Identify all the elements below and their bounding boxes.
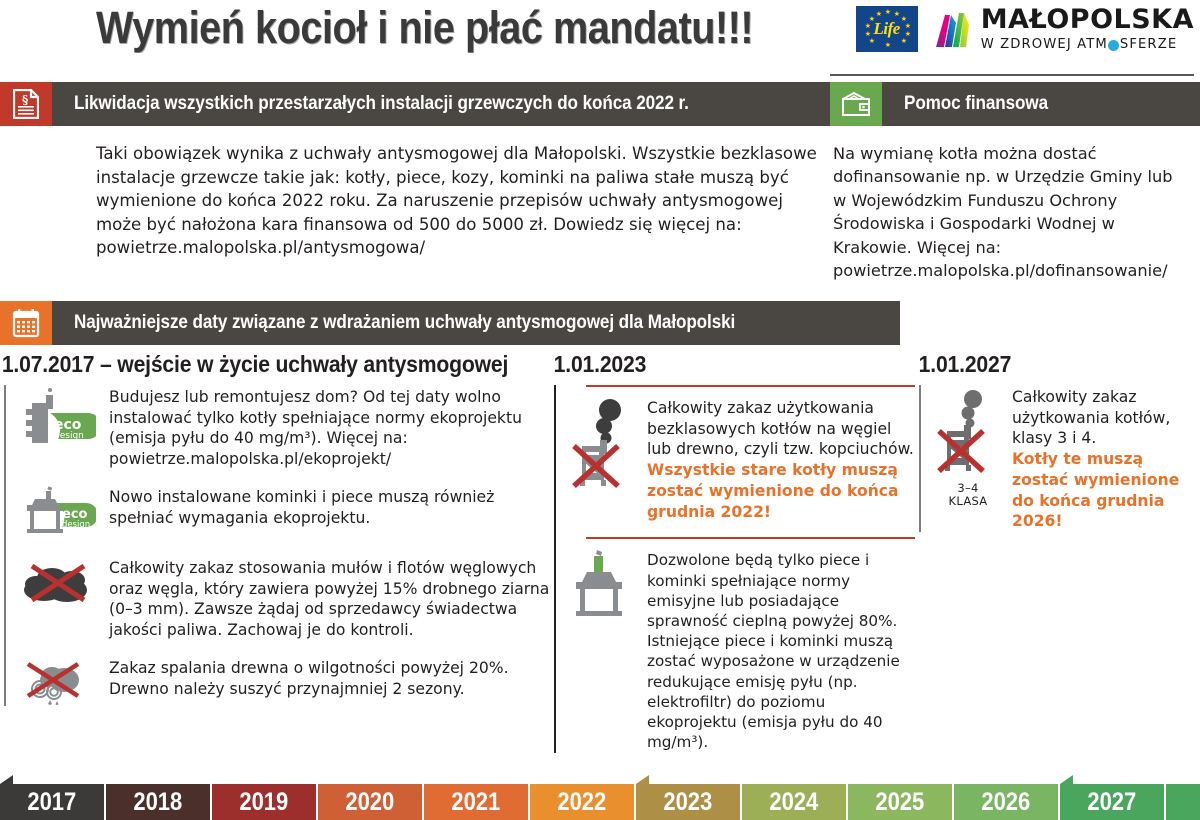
year-notch	[636, 775, 649, 784]
column-date-2027: 1.01.2027	[915, 351, 1177, 378]
list-item: 3–4 KLASA Całkowity zakaz użytkowania ko…	[937, 385, 1200, 532]
year-label: 2026	[982, 788, 1031, 817]
eu-life-logo: Life ★ ★ ★ ★ ★ ★ ★ ★ ★ ★ ★ ★	[856, 6, 918, 52]
fireplace-allowed-icon	[572, 548, 634, 620]
divider-middle	[586, 537, 915, 539]
list-item-text: Dozwolone będą tylko piece i kominki spe…	[647, 548, 915, 752]
timeline-column-2023: 1.01.2023	[550, 351, 915, 768]
logo-group: Life ★ ★ ★ ★ ★ ★ ★ ★ ★ ★ ★ ★	[856, 5, 1194, 52]
year-chip: 2020	[318, 784, 424, 820]
boiler-class34-banned-icon	[937, 385, 999, 481]
atmosphere-o-icon	[1108, 40, 1119, 51]
finance-paragraph: Na wymianę kotła można dostać dofinansow…	[833, 142, 1190, 283]
finance-text-block: Na wymianę kotła można dostać dofinansow…	[830, 142, 1200, 283]
year-chip: 2027	[1060, 784, 1166, 820]
dates-heading-bar: Najważniejsze daty związane z wdrażaniem…	[52, 301, 900, 345]
list-item-text: Całkowity zakaz stosowania mułów i flotó…	[109, 556, 550, 641]
column-date-2017: 1.07.2017 – wejście w życie uchwały anty…	[0, 351, 506, 378]
list-item: eco design Nowo instalowane kominki i pi…	[22, 485, 550, 541]
boiler-banned-icon	[572, 396, 634, 492]
svg-text:design: design	[54, 431, 84, 441]
liquidation-paragraph: Taki obowiązek wynika z uchwały antysmog…	[96, 142, 818, 260]
document-paragraph-icon: §	[0, 82, 52, 126]
list-item: Całkowity zakaz stosowania mułów i flotó…	[22, 556, 550, 641]
list-item: Dozwolone będą tylko piece i kominki spe…	[572, 548, 915, 752]
list-item-text: Całkowity zakaz użytkowania kotłów, klas…	[1012, 385, 1200, 532]
year-chip: 2022	[530, 784, 636, 820]
list-item-body: Całkowity zakaz użytkowania bezklasowych…	[647, 399, 914, 458]
liquidation-section-header: § Likwidacja wszystkich przestarzałych i…	[0, 82, 830, 126]
column-date-2023: 1.01.2023	[550, 351, 886, 378]
year-label: 2025	[876, 788, 925, 817]
wallet-house-icon	[830, 82, 882, 126]
list-item: Całkowity zakaz użytkowania bezklasowych…	[572, 396, 915, 522]
year-label: 2017	[28, 788, 77, 817]
svg-text:design: design	[62, 520, 90, 530]
year-label: 2020	[346, 788, 395, 817]
year-chip: 2025	[848, 784, 954, 820]
year-label: 2019	[240, 788, 289, 817]
list-item: Zakaz spalania drewna o wilgotności powy…	[22, 656, 550, 706]
year-chip: 2017	[0, 784, 106, 820]
year-chip: 2023	[636, 784, 742, 820]
liquidation-heading-bar: Likwidacja wszystkich przestarzałych ins…	[52, 82, 830, 126]
year-notch	[0, 775, 13, 784]
year-chip: 2024	[742, 784, 848, 820]
wet-wood-banned-icon	[22, 656, 96, 706]
list-item-highlight: Wszystkie stare kotły muszą zostać wymie…	[647, 461, 899, 520]
malopolska-wordmark: MAŁOPOLSKA	[981, 6, 1194, 33]
timeline-columns: 1.07.2017 – wejście w życie uchwały anty…	[0, 345, 1200, 768]
year-notch	[1060, 775, 1073, 784]
stove-ecodesign-icon: eco design	[22, 485, 96, 541]
page-header: Wymień kocioł i nie płać mandatu!!! Life…	[0, 0, 1200, 82]
class-label: 3–4 KLASA	[937, 482, 999, 508]
malopolska-logo: MAŁOPOLSKA W ZDROWEJ ATM SFERZE	[936, 5, 1194, 52]
year-label: 2018	[134, 788, 183, 817]
list-item-highlight: Kotły te muszą zostać wymienione do końc…	[1012, 450, 1179, 530]
class-label-line-2: KLASA	[937, 495, 999, 508]
year-chip: 2021	[424, 784, 530, 820]
finance-section-header: Pomoc finansowa	[830, 82, 1200, 126]
page-title: Wymień kocioł i nie płać mandatu!!!	[96, 2, 753, 54]
year-label: 2023	[664, 788, 713, 817]
year-label: 2021	[452, 788, 501, 817]
year-timeline: 2017201820192020202120222023202420252026…	[0, 784, 1200, 820]
malopolska-mountain-icon	[936, 5, 972, 47]
list-item-text: Całkowity zakaz użytkowania bezklasowych…	[647, 396, 915, 522]
year-label: 2022	[558, 788, 607, 817]
timeline-column-2027: 1.01.2027	[915, 351, 1200, 768]
finance-heading-bar: Pomoc finansowa	[882, 82, 1200, 126]
dates-section-header: Najważniejsze daty związane z wdrażaniem…	[0, 301, 900, 345]
top-body: Taki obowiązek wynika z uchwały antysmog…	[0, 126, 1200, 283]
liquidation-text-block: Taki obowiązek wynika z uchwały antysmog…	[0, 142, 830, 283]
malopolska-tagline: W ZDROWEJ ATM SFERZE	[981, 37, 1194, 52]
coal-banned-icon	[22, 556, 96, 606]
year-chip: 2026	[954, 784, 1060, 820]
divider-top	[586, 385, 915, 387]
year-chip: 2019	[212, 784, 318, 820]
year-label: 2024	[770, 788, 819, 817]
year-tail	[1166, 784, 1200, 820]
list-item-text: Nowo instalowane kominki i piece muszą r…	[109, 485, 550, 528]
tagline-part-1: W ZDROWEJ ATM	[981, 37, 1108, 52]
calendar-icon	[0, 301, 52, 345]
boiler-ecodesign-icon: eco design	[22, 385, 96, 451]
tagline-part-2: SFERZE	[1120, 37, 1177, 52]
year-chip: 2018	[106, 784, 212, 820]
timeline-column-2017: 1.07.2017 – wejście w życie uchwały anty…	[0, 351, 550, 768]
list-item-text: Zakaz spalania drewna o wilgotności powy…	[109, 656, 550, 699]
list-item-text: Budujesz lub remontujesz dom? Od tej dat…	[109, 385, 550, 470]
header-divider	[830, 74, 1194, 76]
list-item-body: Całkowity zakaz użytkowania kotłów, klas…	[1012, 388, 1170, 447]
svg-text:§: §	[22, 93, 28, 107]
year-label: 2027	[1088, 788, 1137, 817]
list-item: eco design Budujesz lub remontujesz dom?…	[22, 385, 550, 470]
